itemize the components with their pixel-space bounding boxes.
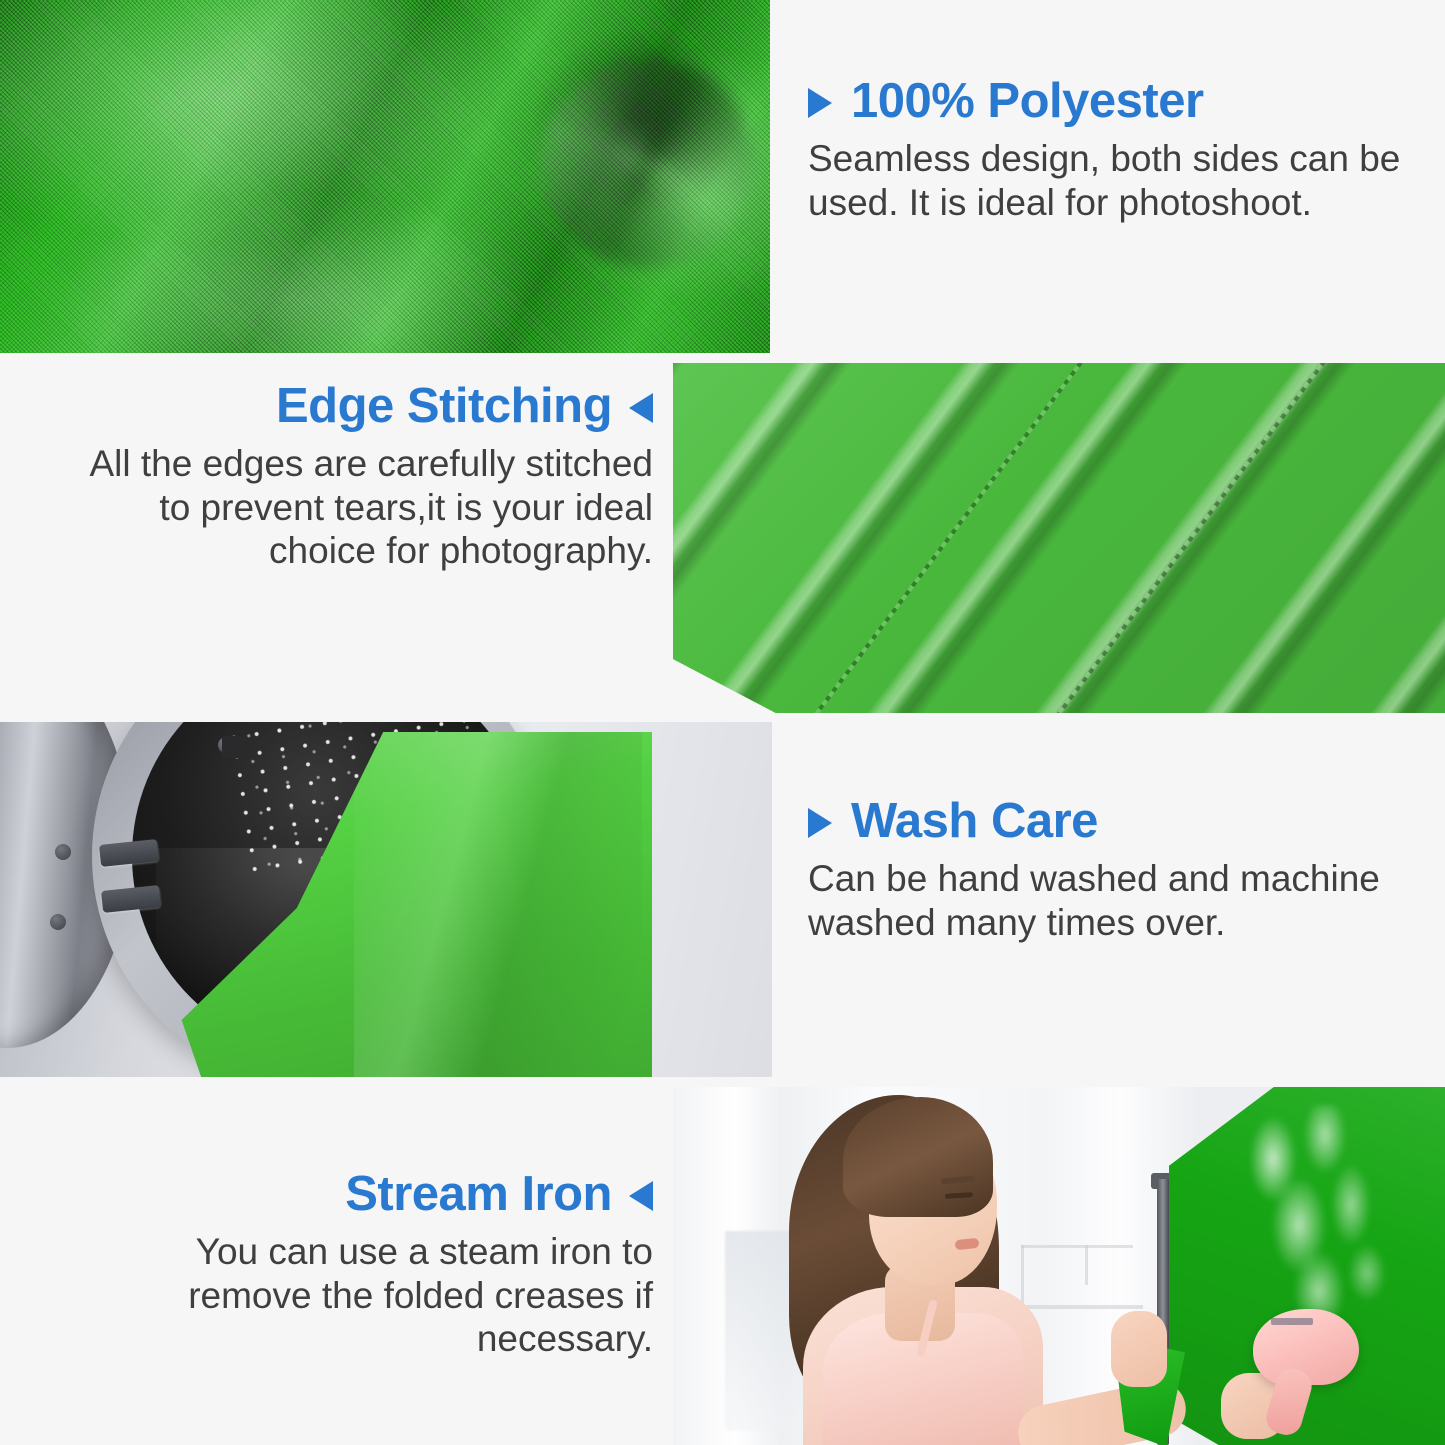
wash-care-heading-label: Wash Care: [851, 796, 1098, 847]
wash-care-text-block: Wash Care Can be hand washed and machine…: [808, 796, 1438, 944]
stream-iron-heading: Stream Iron: [8, 1169, 653, 1220]
edge-stitching-photo: [673, 363, 1445, 713]
stream-iron-heading-label: Stream Iron: [345, 1169, 612, 1220]
feature-row-wash-care: Wash Care Can be hand washed and machine…: [0, 722, 1445, 1077]
stream-iron-text-block: Stream Iron You can use a steam iron to …: [8, 1169, 653, 1360]
feature-row-stream-iron: Stream Iron You can use a steam iron to …: [0, 1087, 1445, 1445]
wall-frame-line-top: [1021, 1245, 1133, 1248]
cloth-crease: [354, 732, 642, 1077]
edge-stitching-text-block: Edge Stitching All the edges are careful…: [8, 381, 653, 572]
edge-stitching-heading: Edge Stitching: [8, 381, 653, 432]
wall-frame-line-bottom: [1011, 1305, 1143, 1309]
triangle-left-icon: [629, 393, 653, 423]
wash-care-body-text: Can be hand washed and machine washed ma…: [808, 857, 1438, 944]
wash-care-heading: Wash Care: [808, 796, 1438, 847]
triangle-right-icon: [808, 808, 832, 838]
polyester-heading: 100% Polyester: [808, 76, 1438, 127]
triangle-right-icon: [808, 88, 832, 118]
washing-machine-photo: [0, 722, 772, 1077]
edge-stitching-heading-label: Edge Stitching: [276, 381, 612, 432]
fabric-swirl-fold: [542, 58, 752, 268]
wall-frame-line-left: [1021, 1245, 1024, 1307]
washer-knob-two: [50, 914, 66, 930]
polyester-body-text: Seamless design, both sides can be used.…: [808, 137, 1438, 224]
polyester-text-block: 100% Polyester Seamless design, both sid…: [808, 76, 1438, 224]
feature-row-edge-stitching: Edge Stitching All the edges are careful…: [0, 363, 1445, 713]
polyester-heading-label: 100% Polyester: [851, 76, 1204, 127]
steam-iron-photo: [673, 1087, 1445, 1445]
steam-iron-label: [1271, 1318, 1313, 1325]
steam-cloud: [1233, 1105, 1403, 1335]
feature-row-polyester: 100% Polyester Seamless design, both sid…: [0, 0, 1445, 353]
triangle-left-icon: [629, 1181, 653, 1211]
product-feature-infographic: 100% Polyester Seamless design, both sid…: [0, 0, 1445, 1445]
washer-button-square: [222, 736, 248, 758]
polyester-fabric-photo: [0, 0, 770, 353]
wall-frame-line-mid: [1085, 1245, 1088, 1285]
fabric-fold-lines: [673, 363, 1445, 713]
woman-hair-front: [843, 1097, 993, 1217]
edge-stitching-body-text: All the edges are carefully stitched to …: [8, 442, 653, 572]
washer-knob-one: [55, 844, 71, 860]
woman-hand-holding-sheet: [1111, 1311, 1167, 1387]
stream-iron-body-text: You can use a steam iron to remove the f…: [8, 1230, 653, 1360]
